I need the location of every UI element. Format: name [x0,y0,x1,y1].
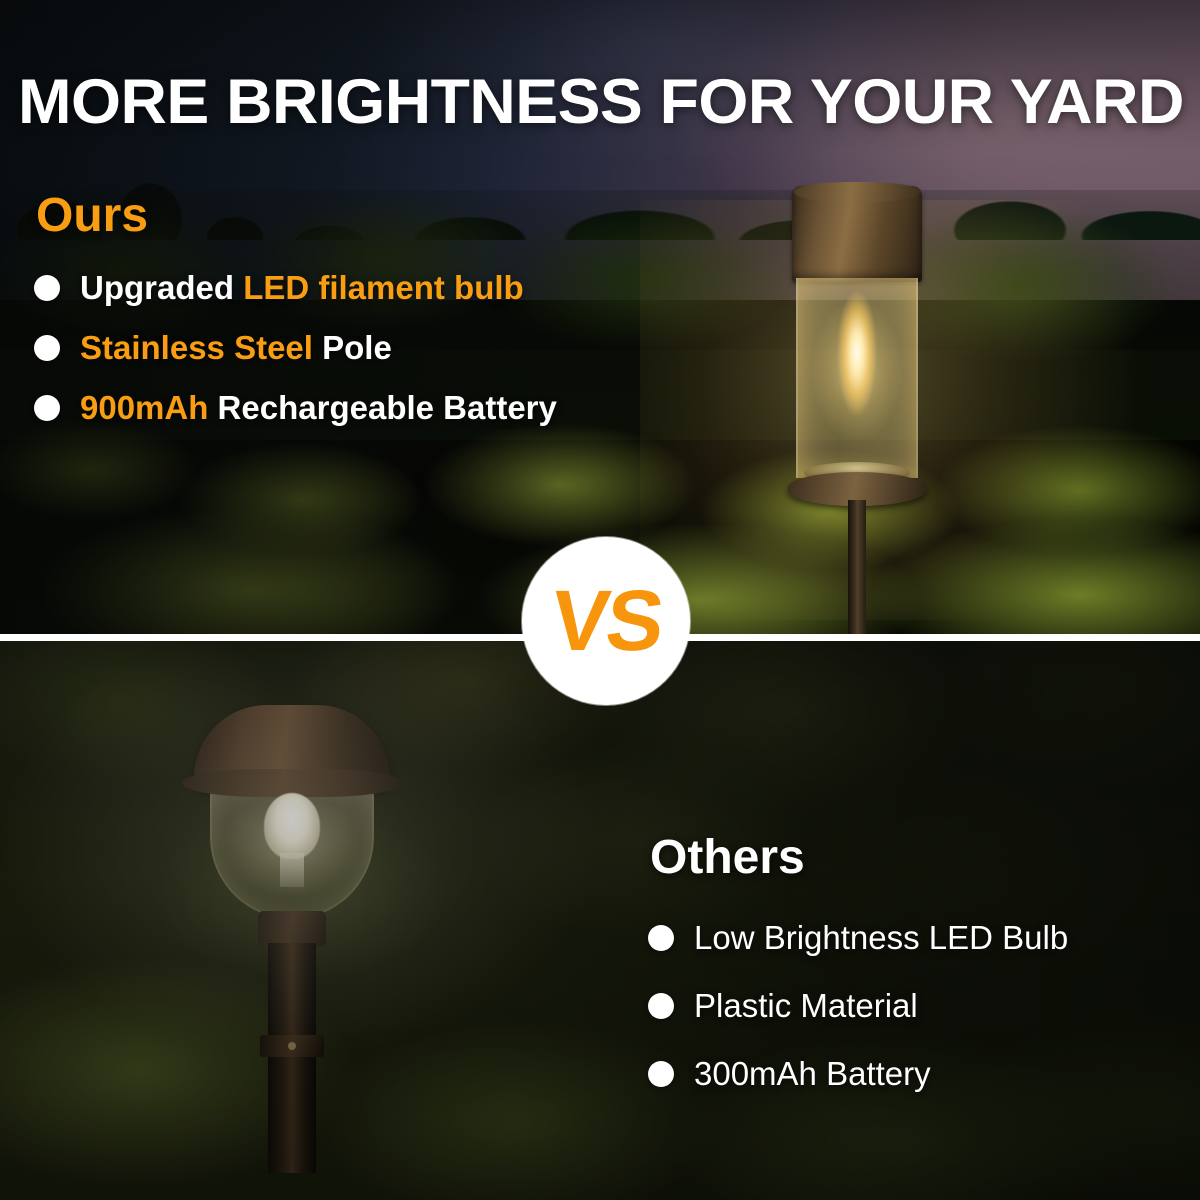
ours-bullet-3-suffix: Rechargeable Battery [208,389,556,426]
list-item: Stainless Steel Pole [34,330,694,366]
others-section-label: Others [650,832,805,884]
ours-product-path-light [782,186,932,634]
list-item: Low Brightness LED Bulb [648,920,1168,956]
list-item: Plastic Material [648,988,1168,1024]
ours-bullet-2-suffix: Pole [313,329,392,366]
bullet-dot-icon [648,925,674,951]
list-item: Upgraded LED filament bulb [34,270,694,306]
vs-badge: VS [522,537,690,705]
bullet-dot-icon [34,275,60,301]
ours-lamp-stainless-steel-pole [848,500,866,634]
vs-label: VS [547,578,665,664]
ours-led-filament-bulb [834,290,880,440]
ours-bullet-2-highlight: Stainless Steel [80,329,313,366]
ours-bullet-1-text: Upgraded LED filament bulb [80,270,524,306]
ours-bullet-2-text: Stainless Steel Pole [80,330,392,366]
ours-bullet-3-highlight: 900mAh [80,389,208,426]
ours-lamp-cap-top-rim [794,182,920,202]
bullet-dot-icon [34,335,60,361]
list-item: 300mAh Battery [648,1056,1168,1092]
bullet-dot-icon [648,993,674,1019]
product-comparison-poster: MORE BRIGHTNESS FOR YOUR YARD Ours Upgra… [0,0,1200,1200]
ours-bullet-3-text: 900mAh Rechargeable Battery [80,390,557,426]
bullet-dot-icon [648,1061,674,1087]
bullet-dot-icon [34,395,60,421]
others-bullet-1-text: Low Brightness LED Bulb [694,920,1068,956]
others-bullet-2-text: Plastic Material [694,988,918,1024]
others-bullet-3-text: 300mAh Battery [694,1056,931,1092]
list-item: 900mAh Rechargeable Battery [34,390,694,426]
ours-section-label: Ours [36,190,148,242]
others-feature-list: Low Brightness LED Bulb Plastic Material… [648,920,1168,1124]
poster-headline: MORE BRIGHTNESS FOR YOUR YARD [18,72,1200,132]
ours-bullet-1-highlight: LED filament bulb [243,269,524,306]
ours-bullet-1-prefix: Upgraded [80,269,243,306]
ours-feature-list: Upgraded LED filament bulb Stainless Ste… [34,270,694,450]
